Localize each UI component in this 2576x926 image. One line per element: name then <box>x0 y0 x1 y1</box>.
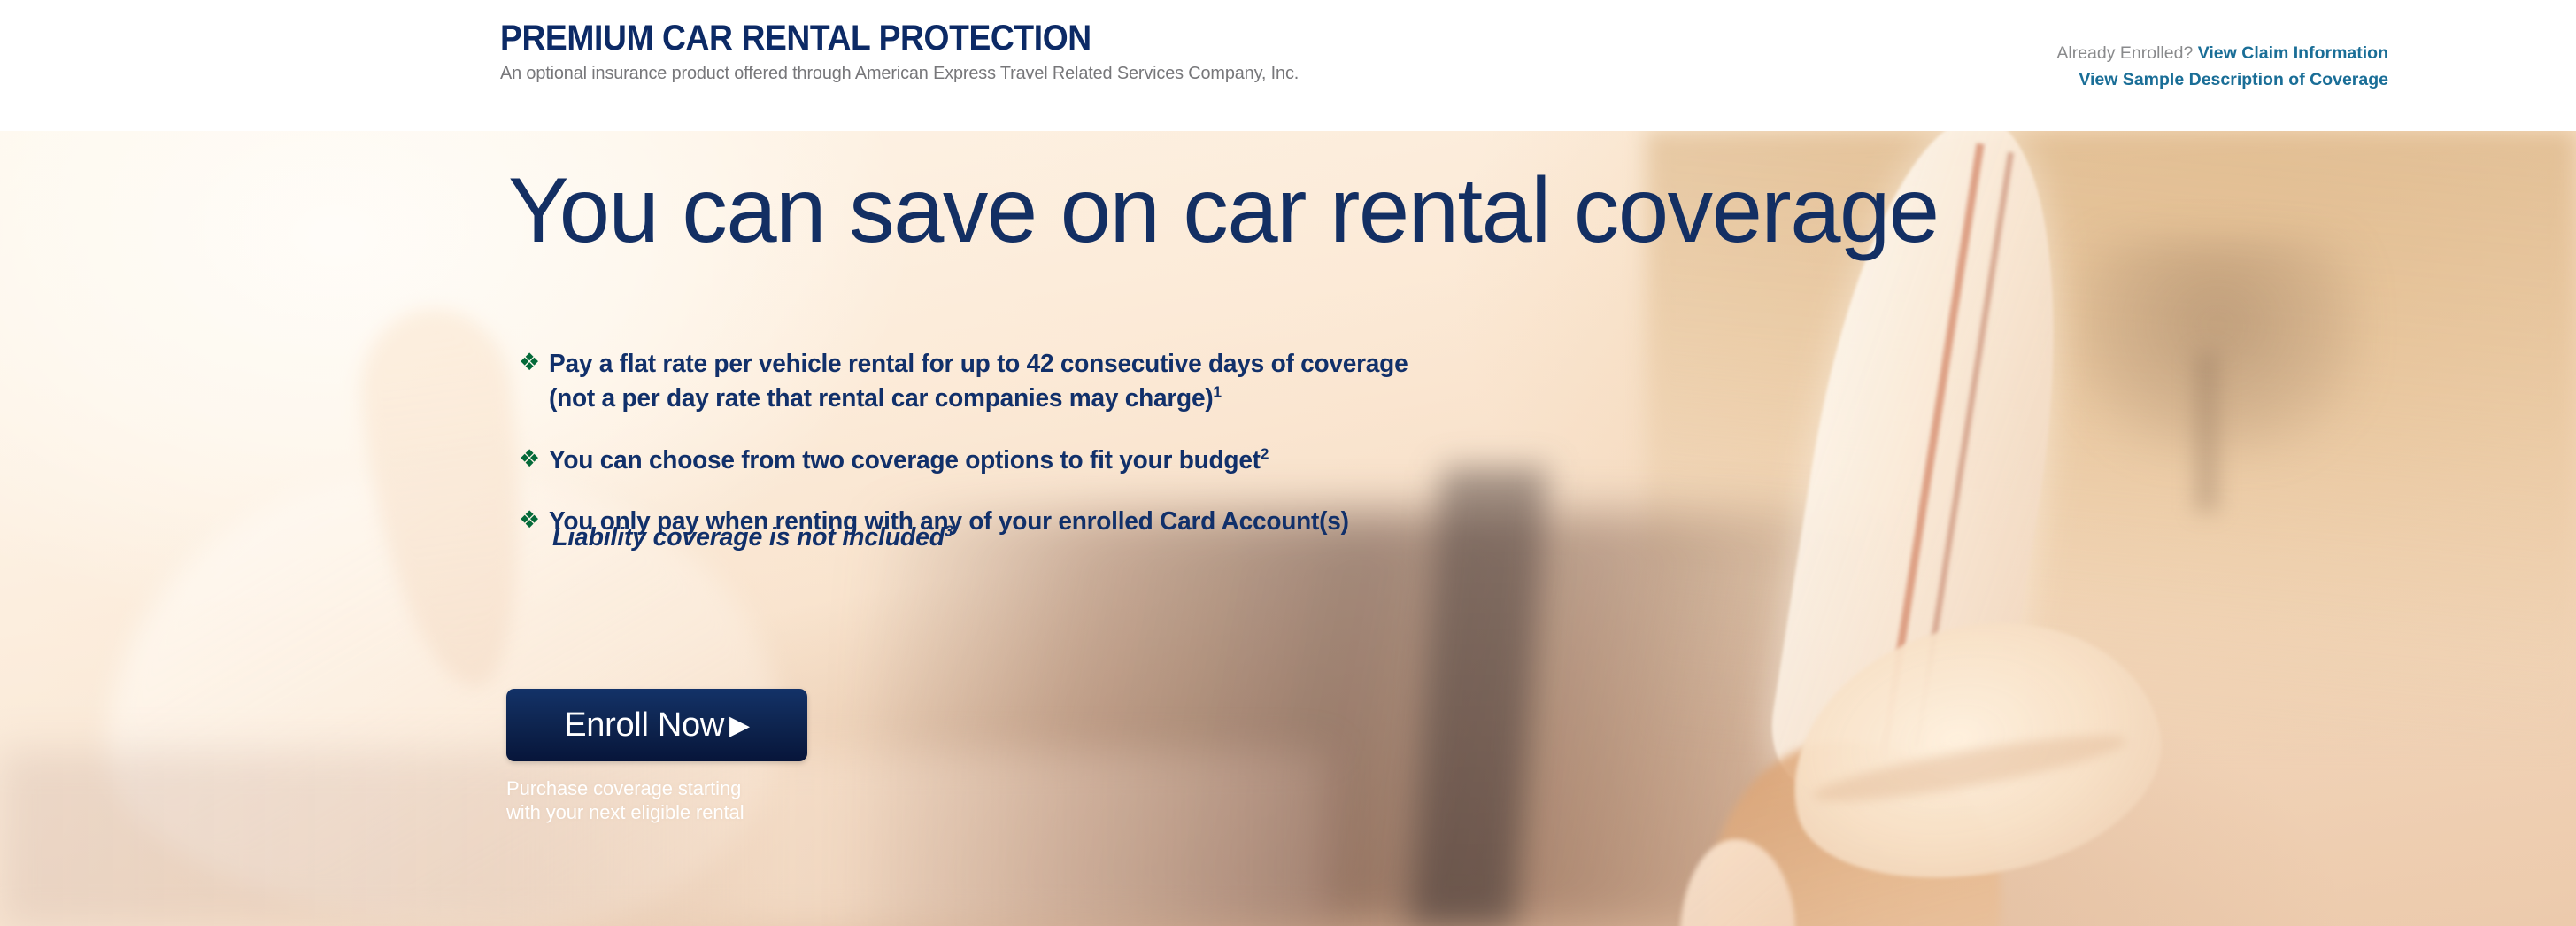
footnote-marker: 1 <box>1213 383 1221 401</box>
view-claim-information-link[interactable]: View Claim Information <box>2198 43 2388 63</box>
hero-content: You can save on car rental coverage ❖ Pa… <box>0 131 2576 926</box>
benefit-text: You can choose from two coverage options… <box>549 444 1269 478</box>
page-title: PREMIUM CAR RENTAL PROTECTION <box>500 19 1266 58</box>
arrow-right-icon: ▶ <box>729 713 750 739</box>
benefit-line-1: You can choose from two coverage options… <box>549 446 1261 475</box>
list-item: ❖ Pay a flat rate per vehicle rental for… <box>519 347 1776 417</box>
benefit-text: Pay a flat rate per vehicle rental for u… <box>549 347 1408 417</box>
enroll-now-label: Enroll Now <box>564 706 724 745</box>
header-links: Already Enrolled? View Claim Information… <box>2056 41 2388 93</box>
already-enrolled-label: Already Enrolled? <box>2056 43 2193 63</box>
liability-disclaimer: Liability coverage is not included3 <box>552 523 953 552</box>
already-enrolled-row: Already Enrolled? View Claim Information <box>2056 41 2388 67</box>
diamond-bullet-icon: ❖ <box>519 505 549 536</box>
diamond-bullet-icon: ❖ <box>519 444 549 475</box>
cta-subtext-line-2: with your next eligible rental <box>506 801 744 823</box>
site-header: PREMIUM CAR RENTAL PROTECTION An optiona… <box>0 0 2576 131</box>
cta-subtext-line-1: Purchase coverage starting <box>506 777 741 799</box>
page-root: PREMIUM CAR RENTAL PROTECTION An optiona… <box>0 0 2576 926</box>
benefit-line-1: Pay a flat rate per vehicle rental for u… <box>549 350 1408 378</box>
header-title-block: PREMIUM CAR RENTAL PROTECTION An optiona… <box>500 19 1323 84</box>
view-sample-description-of-coverage-link[interactable]: View Sample Description of Coverage <box>2056 67 2388 94</box>
hero-headline: You can save on car rental coverage <box>508 165 1939 257</box>
benefit-line-2: (not a per day rate that rental car comp… <box>549 384 1213 413</box>
enroll-now-button[interactable]: Enroll Now ▶ <box>506 689 807 761</box>
page-subtitle: An optional insurance product offered th… <box>500 63 1299 84</box>
footnote-marker: 2 <box>1261 444 1269 462</box>
cta-subtext: Purchase coverage starting with your nex… <box>506 777 744 825</box>
hero-section: You can save on car rental coverage ❖ Pa… <box>0 131 2576 926</box>
liability-disclaimer-text: Liability coverage is not included <box>552 523 945 552</box>
footnote-marker: 3 <box>945 522 953 540</box>
diamond-bullet-icon: ❖ <box>519 347 549 379</box>
list-item: ❖ You can choose from two coverage optio… <box>519 444 1776 478</box>
